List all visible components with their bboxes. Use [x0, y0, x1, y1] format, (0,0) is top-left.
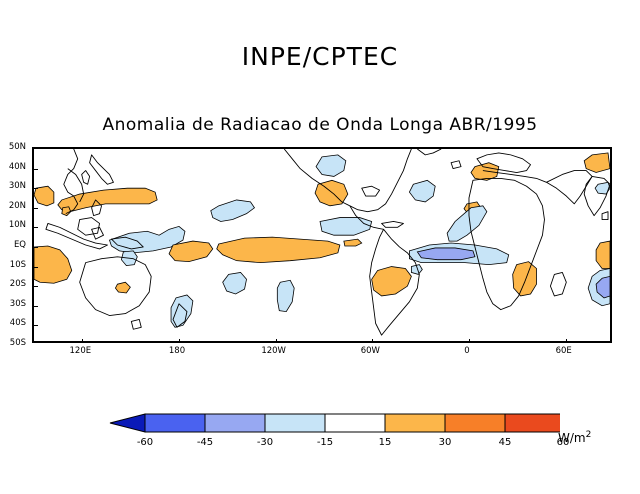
colorbar-band-4	[325, 414, 385, 432]
y-axis-label: 20S	[10, 279, 26, 289]
y-axis-label: EQ	[14, 240, 26, 250]
colorbar-band-7	[505, 414, 560, 432]
anomaly-map	[32, 147, 612, 343]
x-axis-tick	[82, 339, 83, 343]
y-axis-label: 40S	[10, 318, 26, 328]
x-axis-tick	[179, 339, 180, 343]
y-axis-label: 10S	[10, 260, 26, 270]
y-axis-tick	[34, 247, 38, 248]
colorbar-tick-label: -15	[317, 437, 333, 448]
colorbar-tick-label: 15	[379, 437, 392, 448]
colorbar-units: W/m2	[558, 430, 591, 445]
y-axis-tick	[34, 286, 38, 287]
x-axis-tick	[276, 339, 277, 343]
colorbar-band-5	[385, 414, 445, 432]
y-axis-label: 10N	[9, 220, 26, 230]
colorbar-swatches	[100, 410, 560, 436]
y-axis-label: 50S	[10, 338, 26, 348]
y-axis-label: 40N	[9, 162, 26, 172]
colorbar-tick-label: 45	[499, 437, 512, 448]
map-canvas	[34, 149, 610, 341]
y-axis: 50N40N30N20N10NEQ10S20S30S40S50S	[0, 147, 30, 343]
x-axis-label: 180	[169, 346, 185, 356]
region-east-africa-positive	[513, 262, 537, 296]
colorbar-tick-label: -45	[197, 437, 213, 448]
y-axis-tick	[34, 227, 38, 228]
colorbar-band-6	[445, 414, 505, 432]
y-axis-tick	[34, 267, 38, 268]
region-equatorial-atlantic-core-negative	[417, 248, 475, 260]
x-axis-tick	[469, 339, 470, 343]
colorbar-band-2	[205, 414, 265, 432]
y-axis-label: 20N	[9, 201, 26, 211]
colorbar-tick-label: -60	[137, 437, 153, 448]
colorbar-band-3	[265, 414, 325, 432]
x-axis-tick	[372, 339, 373, 343]
y-axis-tick	[34, 325, 38, 326]
colorbar: -60-45-30-1515304560	[100, 410, 560, 456]
map-subtitle: Anomalia de Radiacao de Onda Longa ABR/1…	[0, 115, 640, 135]
x-axis: 120E180120W60W060E	[32, 346, 612, 362]
y-axis-label: 50N	[9, 142, 26, 152]
colorbar-low-arrow	[110, 414, 145, 432]
colorbar-band-1	[145, 414, 205, 432]
y-axis-tick	[34, 306, 38, 307]
y-axis-label: 30N	[9, 181, 26, 191]
page-title: INPE/CPTEC	[0, 42, 640, 71]
x-axis-label: 60W	[361, 346, 380, 356]
y-axis-tick	[34, 188, 38, 189]
x-axis-tick	[566, 339, 567, 343]
y-axis-label: 30S	[10, 299, 26, 309]
colorbar-tick-label: 30	[439, 437, 452, 448]
colorbar-tick-label: -30	[257, 437, 273, 448]
x-axis-label: 120E	[70, 346, 92, 356]
units-exponent: 2	[586, 430, 592, 440]
x-axis-label: 120W	[261, 346, 286, 356]
y-axis-tick	[34, 169, 38, 170]
y-axis-tick	[34, 208, 38, 209]
units-text: W/m	[558, 431, 586, 445]
x-axis-label: 60E	[556, 346, 572, 356]
x-axis-label: 0	[464, 346, 469, 356]
